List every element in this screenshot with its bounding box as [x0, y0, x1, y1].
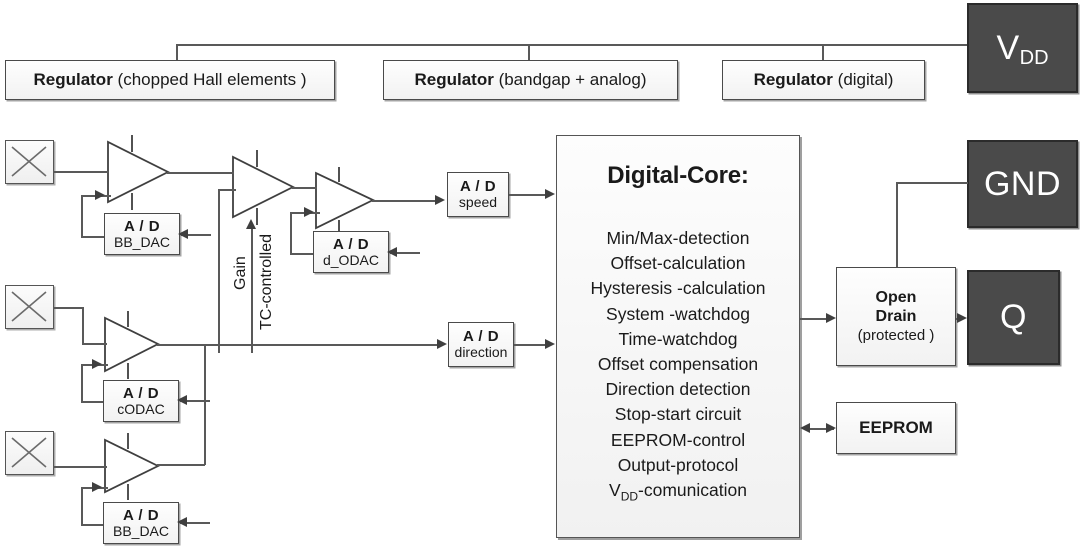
cross-icon: [6, 141, 52, 182]
dac-bb-bottom: A / D BB_DAC: [103, 502, 179, 544]
gain-label-line2: TC-controlled: [258, 234, 276, 330]
regulator-analog-bold: Regulator: [414, 70, 493, 89]
amplifier-2: [233, 150, 293, 225]
wire-gnd-drop: [896, 182, 898, 268]
digital-core-item: Hysteresis -calculation: [557, 276, 799, 301]
arrow-gain-into-amp2: [246, 219, 256, 229]
regulator-analog: Regulator (bandgap + analog): [383, 60, 678, 100]
arrow-codac-input: [177, 395, 187, 405]
wire-adcdirection-to-core: [514, 344, 545, 346]
wire-codac-up: [81, 364, 83, 402]
digital-core-item: Stop-start circuit: [557, 402, 799, 427]
wire-dodac-up: [290, 212, 292, 254]
vdd-comm-sub: DD: [621, 490, 638, 504]
dac-bb-bottom-type: A / D: [123, 508, 159, 524]
block-diagram-canvas: VDD Regulator (chopped Hall elements ) R…: [0, 0, 1080, 547]
wire-gain-vertical: [251, 228, 253, 353]
wire-amp5-riser: [204, 344, 206, 465]
dac-d-odac-label: d_ODAC: [323, 253, 379, 268]
wire-gain-feed-vertical: [218, 189, 220, 353]
dac-d-odac: A / D d_ODAC: [313, 231, 389, 273]
digital-core-item: Output-protocol: [557, 453, 799, 478]
arrow-adcspeed-into-core: [545, 189, 555, 199]
dac-bb-top: A / D BB_DAC: [104, 213, 180, 255]
wire-hall3-to-amp5: [53, 466, 107, 468]
wire-hall2-drop: [82, 307, 84, 344]
vdd-pad-sub: DD: [1020, 47, 1049, 69]
vdd-pad: VDD: [967, 3, 1078, 93]
wire-hall2-to-amp4: [82, 343, 107, 345]
digital-core-block: Digital-Core: Min/Max-detection Offset-c…: [556, 135, 800, 538]
open-drain-line2: Drain: [876, 308, 917, 327]
hall-element-3: [5, 431, 54, 475]
wire-bbdac-top-base: [81, 236, 104, 238]
regulator-digital-bold: Regulator: [754, 70, 833, 89]
vdd-comm-pre: V: [609, 480, 621, 500]
arrow-codac-into-amp4: [92, 359, 102, 369]
cross-icon: [6, 286, 52, 327]
eeprom-label: EEPROM: [859, 418, 933, 438]
wire-hall1-to-amp1: [53, 171, 109, 173]
regulator-analog-detail: (bandgap + analog): [499, 70, 647, 89]
open-drain-line1: Open: [876, 289, 917, 308]
vdd-comm-post: -comunication: [638, 480, 747, 500]
adc-speed-label: speed: [459, 195, 497, 210]
wire-amp3-to-adcspeed: [372, 200, 435, 202]
wire-core-to-opendrain: [800, 318, 826, 320]
adc-speed: A / D speed: [447, 172, 509, 217]
wire-dodac-base: [290, 253, 315, 255]
hall-element-1: [5, 140, 54, 184]
wire-amp5-out: [157, 464, 205, 466]
arrow-bbdac-bottom-input: [177, 517, 187, 527]
arrow-eeprom-into-core: [800, 423, 810, 433]
regulator-hall-detail: (chopped Hall elements ): [118, 70, 307, 89]
adc-speed-type: A / D: [460, 179, 496, 195]
digital-core-item: Direction detection: [557, 377, 799, 402]
q-pad-label: Q: [1000, 298, 1027, 337]
amplifier-1: [108, 135, 168, 210]
dac-bb-top-label: BB_DAC: [114, 235, 170, 250]
wire-bbdac-bottom-up: [81, 487, 83, 525]
gnd-pad: GND: [967, 140, 1078, 228]
dac-bb-bottom-label: BB_DAC: [113, 524, 169, 539]
arrow-bbdac-bottom-into-amp5: [92, 482, 102, 492]
adc-direction-label: direction: [455, 345, 508, 360]
adc-direction: A / D direction: [448, 322, 514, 367]
gain-label-line1: Gain: [232, 256, 250, 290]
regulator-hall-bold: Regulator: [33, 70, 112, 89]
digital-core-item-vdd: VDD-comunication: [557, 478, 799, 510]
digital-core-item: System -watchdog: [557, 302, 799, 327]
vdd-bus-drop-1: [176, 44, 178, 61]
vdd-bus-drop-2: [528, 44, 530, 61]
arrow-bbdac-top-input: [178, 229, 188, 239]
vdd-pad-label: V: [996, 29, 1019, 67]
open-drain-block: Open Drain (protected ): [836, 267, 956, 366]
dac-codac: A / D cODAC: [103, 380, 179, 422]
amplifier-3: [316, 167, 373, 236]
regulator-digital-detail: (digital): [838, 70, 894, 89]
digital-core-item: Min/Max-detection: [557, 226, 799, 251]
q-pad: Q: [967, 270, 1060, 365]
wire-amp1-to-amp2: [167, 172, 234, 174]
arrow-into-adc-speed: [435, 195, 445, 205]
regulator-digital: Regulator (digital): [722, 60, 925, 100]
wire-bbdac-bottom-base: [81, 524, 104, 526]
wire-amp2-to-amp3: [292, 187, 317, 189]
hall-element-2: [5, 285, 54, 329]
amplifier-4: [105, 311, 158, 379]
gnd-pad-label: GND: [984, 165, 1061, 204]
wire-adcspeed-to-core: [509, 194, 545, 196]
arrow-adcdirection-into-core: [545, 339, 555, 349]
digital-core-item: EEPROM-control: [557, 428, 799, 453]
eeprom-block: EEPROM: [836, 402, 956, 454]
digital-core-item: Offset compensation: [557, 352, 799, 377]
vdd-bus-horizontal: [176, 44, 976, 46]
dac-d-odac-type: A / D: [333, 237, 369, 253]
digital-core-title: Digital-Core:: [557, 162, 799, 190]
arrow-core-into-eeprom: [826, 423, 836, 433]
arrow-bbdac-top-into-amp1: [95, 190, 105, 200]
wire-bbdac-top-up: [81, 195, 83, 237]
adc-direction-type: A / D: [463, 329, 499, 345]
digital-core-feature-list: Min/Max-detection Offset-calculation Hys…: [557, 226, 799, 510]
wire-codac-base: [81, 401, 104, 403]
dac-codac-label: cODAC: [117, 402, 164, 417]
arrow-dodac-into-amp3: [304, 207, 314, 217]
arrow-core-into-opendrain: [826, 313, 836, 323]
amplifier-5: [105, 433, 158, 500]
arrow-into-adc-direction: [437, 339, 447, 349]
wire-hall2-out: [53, 307, 83, 309]
wire-gnd-to-opendrain: [896, 182, 968, 184]
arrow-opendrain-into-q: [957, 313, 967, 323]
regulator-hall: Regulator (chopped Hall elements ): [5, 60, 335, 100]
open-drain-line3: (protected ): [858, 327, 935, 345]
wire-amp4-out: [157, 344, 437, 346]
dac-bb-top-type: A / D: [124, 219, 160, 235]
cross-icon: [6, 432, 52, 473]
dac-codac-type: A / D: [123, 386, 159, 402]
arrow-dodac-input: [387, 247, 397, 257]
digital-core-item: Time-watchdog: [557, 327, 799, 352]
vdd-bus-drop-3: [822, 44, 824, 61]
wire-gain-feed-top: [218, 189, 236, 191]
digital-core-item: Offset-calculation: [557, 251, 799, 276]
